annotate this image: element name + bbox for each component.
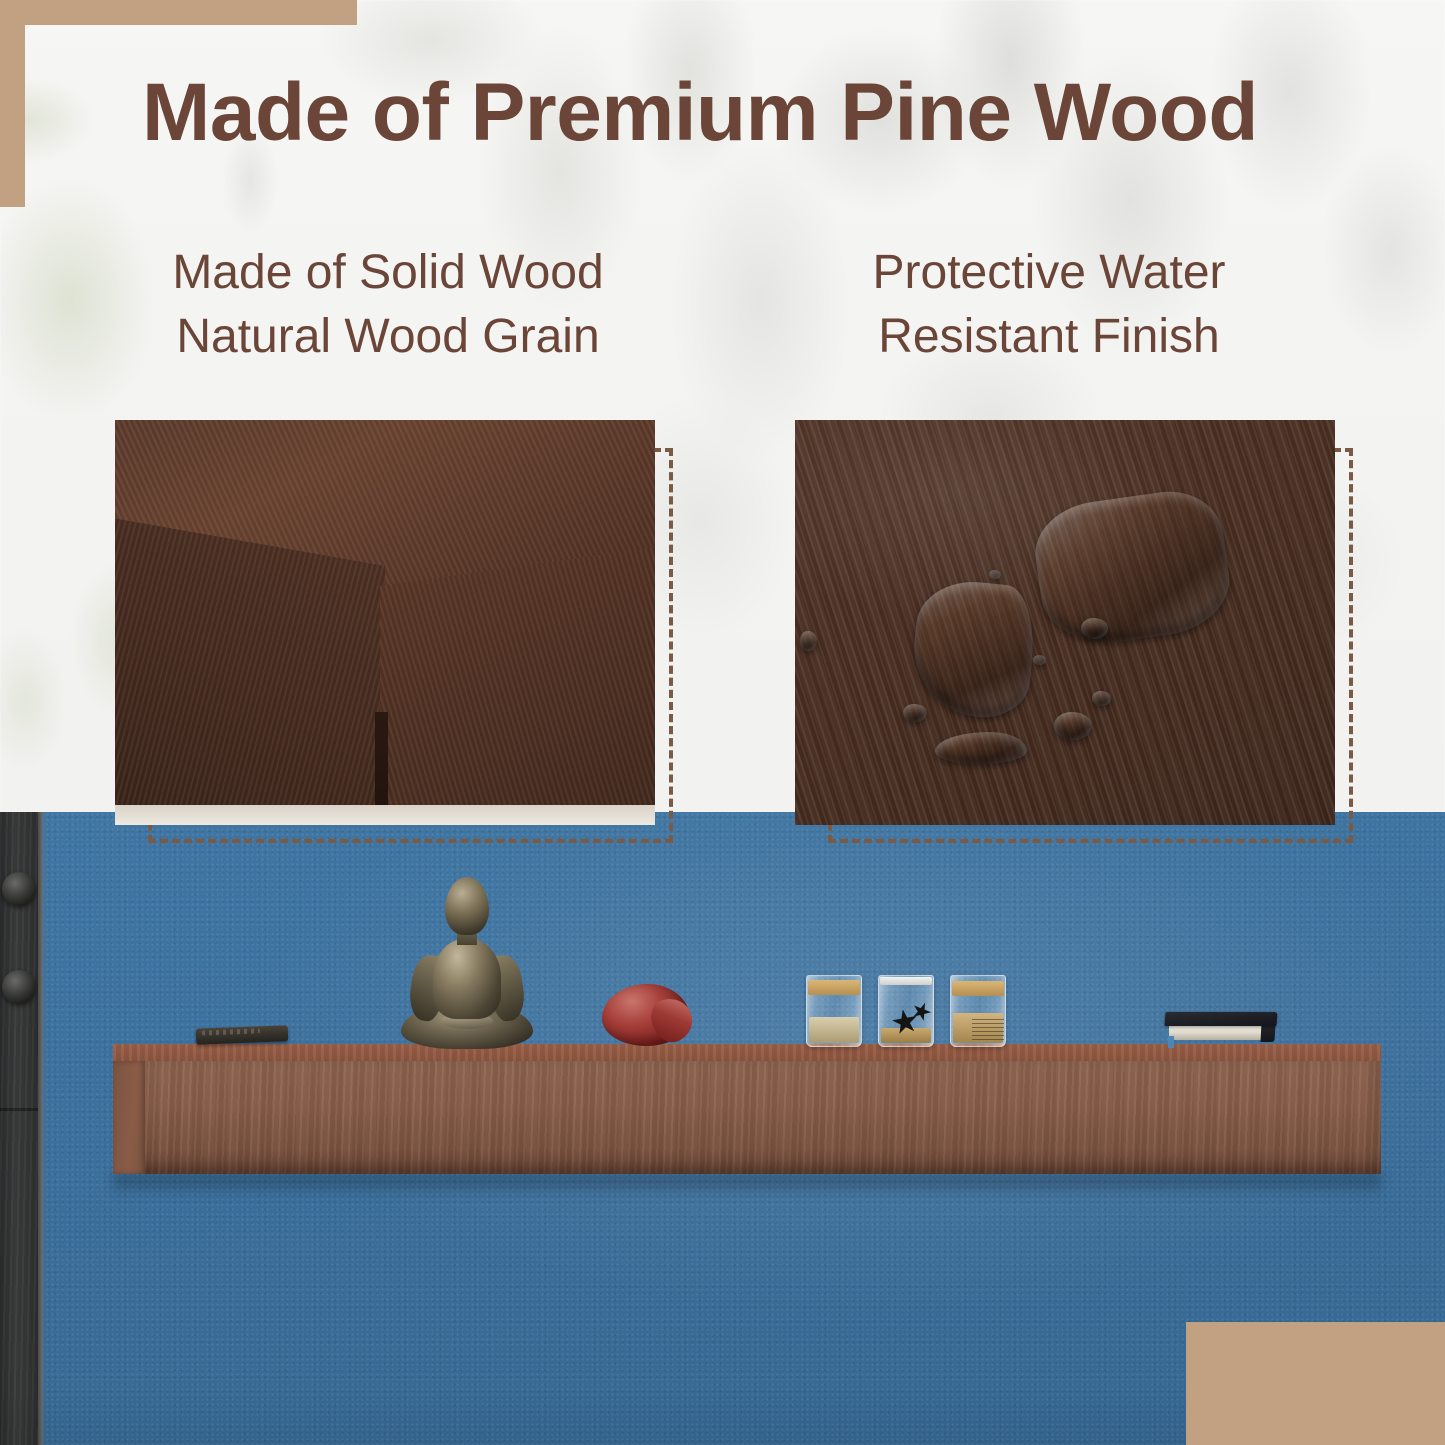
feature-caption-water-resistant: Protective Water Resistant Finish xyxy=(766,241,1332,369)
glass-jar-1 xyxy=(806,975,862,1047)
feature-caption-line-2: Natural Wood Grain xyxy=(105,305,671,369)
book-cover xyxy=(1165,1012,1278,1026)
book-pages xyxy=(1169,1024,1271,1040)
shelf-front-face xyxy=(113,1061,1381,1174)
buddha-torso xyxy=(433,939,501,1019)
book xyxy=(1165,1012,1277,1044)
feature-caption-solid-wood: Made of Solid Wood Natural Wood Grain xyxy=(105,241,671,369)
feature-image-water-resistant-overlap xyxy=(795,420,1335,825)
feature-caption-line-1: Protective Water xyxy=(766,241,1332,305)
tan-corner-bracket-horizontal xyxy=(0,0,357,25)
jar-driftwood-band xyxy=(808,980,860,995)
floating-wood-shelf xyxy=(113,1044,1381,1174)
shelf-drop-shadow xyxy=(113,1174,1381,1196)
jar-contents-driftwood xyxy=(881,1028,931,1043)
jar-contents-candles xyxy=(809,1017,859,1043)
jar-rim-band xyxy=(880,977,932,985)
glass-jar-3 xyxy=(950,975,1006,1047)
door-knob-lower-icon xyxy=(2,970,36,1004)
door-edge-highlight xyxy=(38,812,43,1445)
door-panel-seam xyxy=(0,1108,38,1111)
feature-caption-line-2: Resistant Finish xyxy=(766,305,1332,369)
tan-block-bottom-right xyxy=(1186,1322,1445,1445)
door-panel xyxy=(0,812,38,1445)
infographic-canvas: Made of Premium Pine Wood Made of Solid … xyxy=(0,0,1445,1445)
jar-contents-sand xyxy=(953,1013,1003,1043)
page-title: Made of Premium Pine Wood xyxy=(0,72,1400,154)
buddha-statue xyxy=(395,877,539,1047)
jar-driftwood-band xyxy=(952,981,1004,996)
shelf-left-end-cap xyxy=(113,1061,145,1174)
feature-caption-line-1: Made of Solid Wood xyxy=(105,241,671,305)
shelf-top-surface xyxy=(113,1044,1381,1061)
book-ribbon-bookmark xyxy=(1168,1036,1174,1048)
buddha-head xyxy=(445,877,489,935)
feature-image-solid-wood-overlap xyxy=(115,420,655,825)
door-knob-upper-icon xyxy=(2,872,36,906)
red-shell-ornament xyxy=(602,984,690,1046)
